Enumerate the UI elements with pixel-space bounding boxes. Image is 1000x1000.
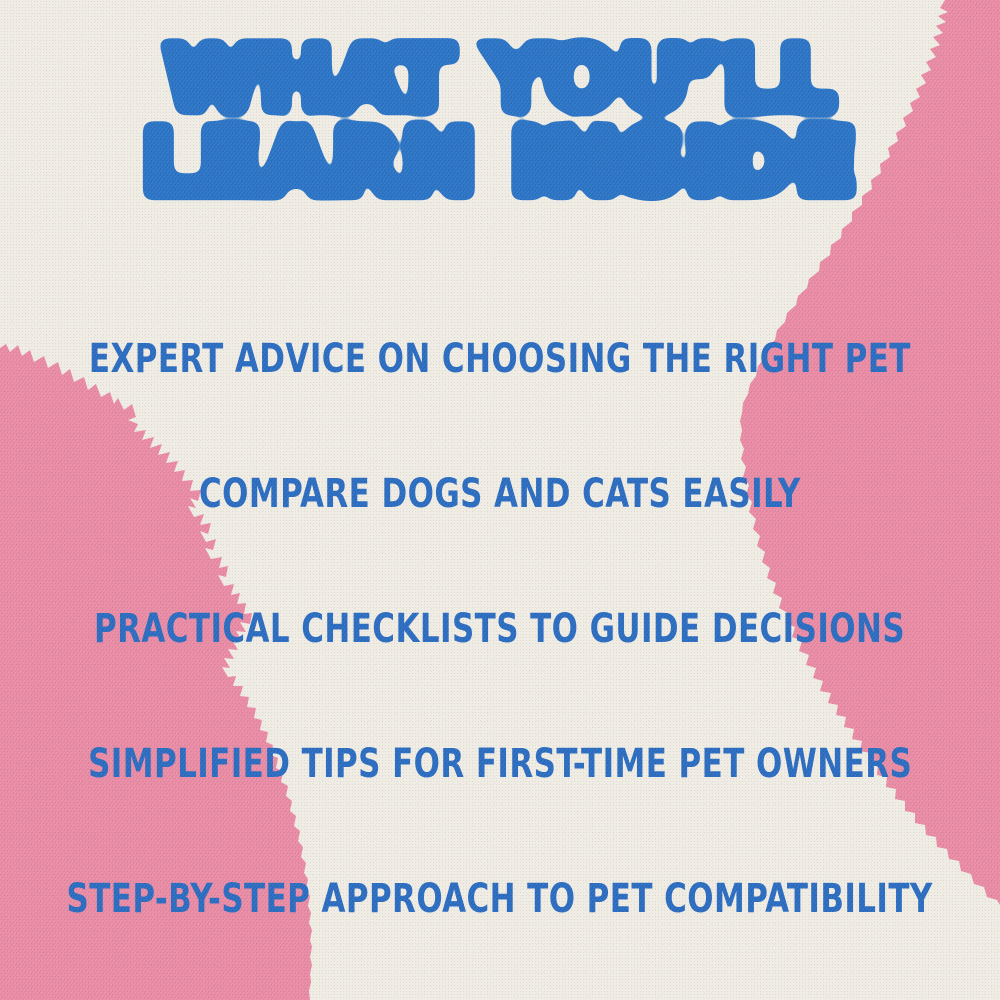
benefits-list: EXPERT ADVICE ON CHOOSING THE RIGHT PET …: [0, 339, 1000, 919]
title-line-2: LEARN INSIDE: [142, 121, 858, 205]
list-item: SIMPLIFIED TIPS FOR FIRST-TIME PET OWNER…: [88, 744, 912, 784]
poster-canvas: WHAT YOU’LL LEARN INSIDE EXPERT ADVICE O…: [0, 0, 1000, 1000]
list-item: COMPARE DOGS AND CATS EASILY: [199, 474, 801, 514]
list-item: PRACTICAL CHECKLISTS TO GUIDE DECISIONS: [94, 609, 905, 649]
page-title: WHAT YOU’LL LEARN INSIDE: [142, 38, 858, 205]
poster-content: WHAT YOU’LL LEARN INSIDE EXPERT ADVICE O…: [0, 0, 1000, 1000]
list-item: STEP-BY-STEP APPROACH TO PET COMPATIBILI…: [67, 879, 933, 919]
list-item: EXPERT ADVICE ON CHOOSING THE RIGHT PET: [89, 339, 911, 379]
title-line-1: WHAT YOU’LL: [142, 38, 858, 121]
